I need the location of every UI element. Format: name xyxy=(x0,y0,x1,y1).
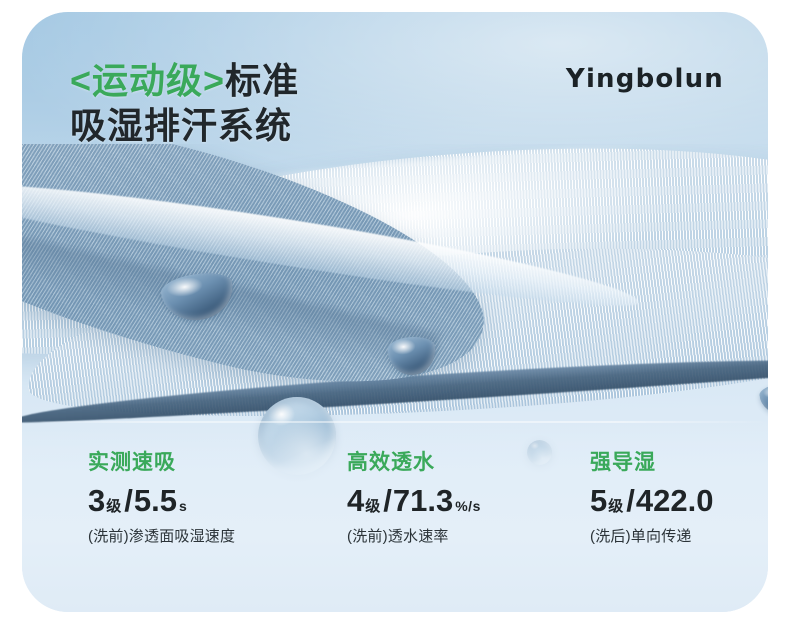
stat-slash: / xyxy=(124,485,133,516)
stat-suffix: %/s xyxy=(455,499,481,513)
stat-slash: / xyxy=(383,485,392,516)
fabric-photo xyxy=(22,144,768,432)
stat-card-2: 高效透水 4 级 / 71.3 %/s (洗前)透水速率 xyxy=(347,452,481,546)
stat-grade: 5 xyxy=(590,485,607,516)
stat-number: 71.3 xyxy=(393,485,453,516)
stat-grade-unit: 级 xyxy=(608,499,623,514)
stat-value: 5 级 / 422.0 xyxy=(590,485,715,516)
stat-title: 高效透水 xyxy=(347,452,481,473)
headline-line-1: <运动级>标准 xyxy=(70,58,299,103)
stat-number: 422.0 xyxy=(636,485,714,516)
stat-note: (洗后)单向传递 xyxy=(590,525,715,546)
stat-slash: / xyxy=(626,485,635,516)
headline-line-2: 吸湿排汗系统 xyxy=(70,103,299,148)
stat-number: 5.5 xyxy=(134,485,177,516)
stat-grade-unit: 级 xyxy=(106,499,121,514)
stats-row: 实测速吸 3 级 / 5.5 s (洗前)渗透面吸湿速度 高效透水 4 级 / … xyxy=(22,452,768,572)
stat-note: (洗前)透水速率 xyxy=(347,525,481,546)
horizon-divider xyxy=(22,421,768,423)
product-feature-card: <运动级>标准 吸湿排汗系统 Yingbolun 实测速吸 3 级 / 5.5 … xyxy=(22,12,768,612)
stat-title: 强导湿 xyxy=(590,452,715,473)
stat-title: 实测速吸 xyxy=(88,452,235,473)
poster-root: <运动级>标准 吸湿排汗系统 Yingbolun 实测速吸 3 级 / 5.5 … xyxy=(0,0,790,622)
headline-line1-rest: 标准 xyxy=(225,60,299,101)
stat-value: 3 级 / 5.5 s xyxy=(88,485,235,516)
page-title: <运动级>标准 吸湿排汗系统 xyxy=(70,58,299,149)
stat-suffix: s xyxy=(179,499,187,513)
stat-note: (洗前)渗透面吸湿速度 xyxy=(88,525,235,546)
brand-logo: Yingbolun xyxy=(566,64,724,94)
stat-card-1: 实测速吸 3 级 / 5.5 s (洗前)渗透面吸湿速度 xyxy=(88,452,235,546)
stat-grade: 4 xyxy=(347,485,364,516)
stat-grade: 3 xyxy=(88,485,105,516)
stat-card-3: 强导湿 5 级 / 422.0 (洗后)单向传递 xyxy=(590,452,715,546)
stat-value: 4 级 / 71.3 %/s xyxy=(347,485,481,516)
stat-grade-unit: 级 xyxy=(365,499,380,514)
headline-accent: <运动级> xyxy=(70,60,225,101)
